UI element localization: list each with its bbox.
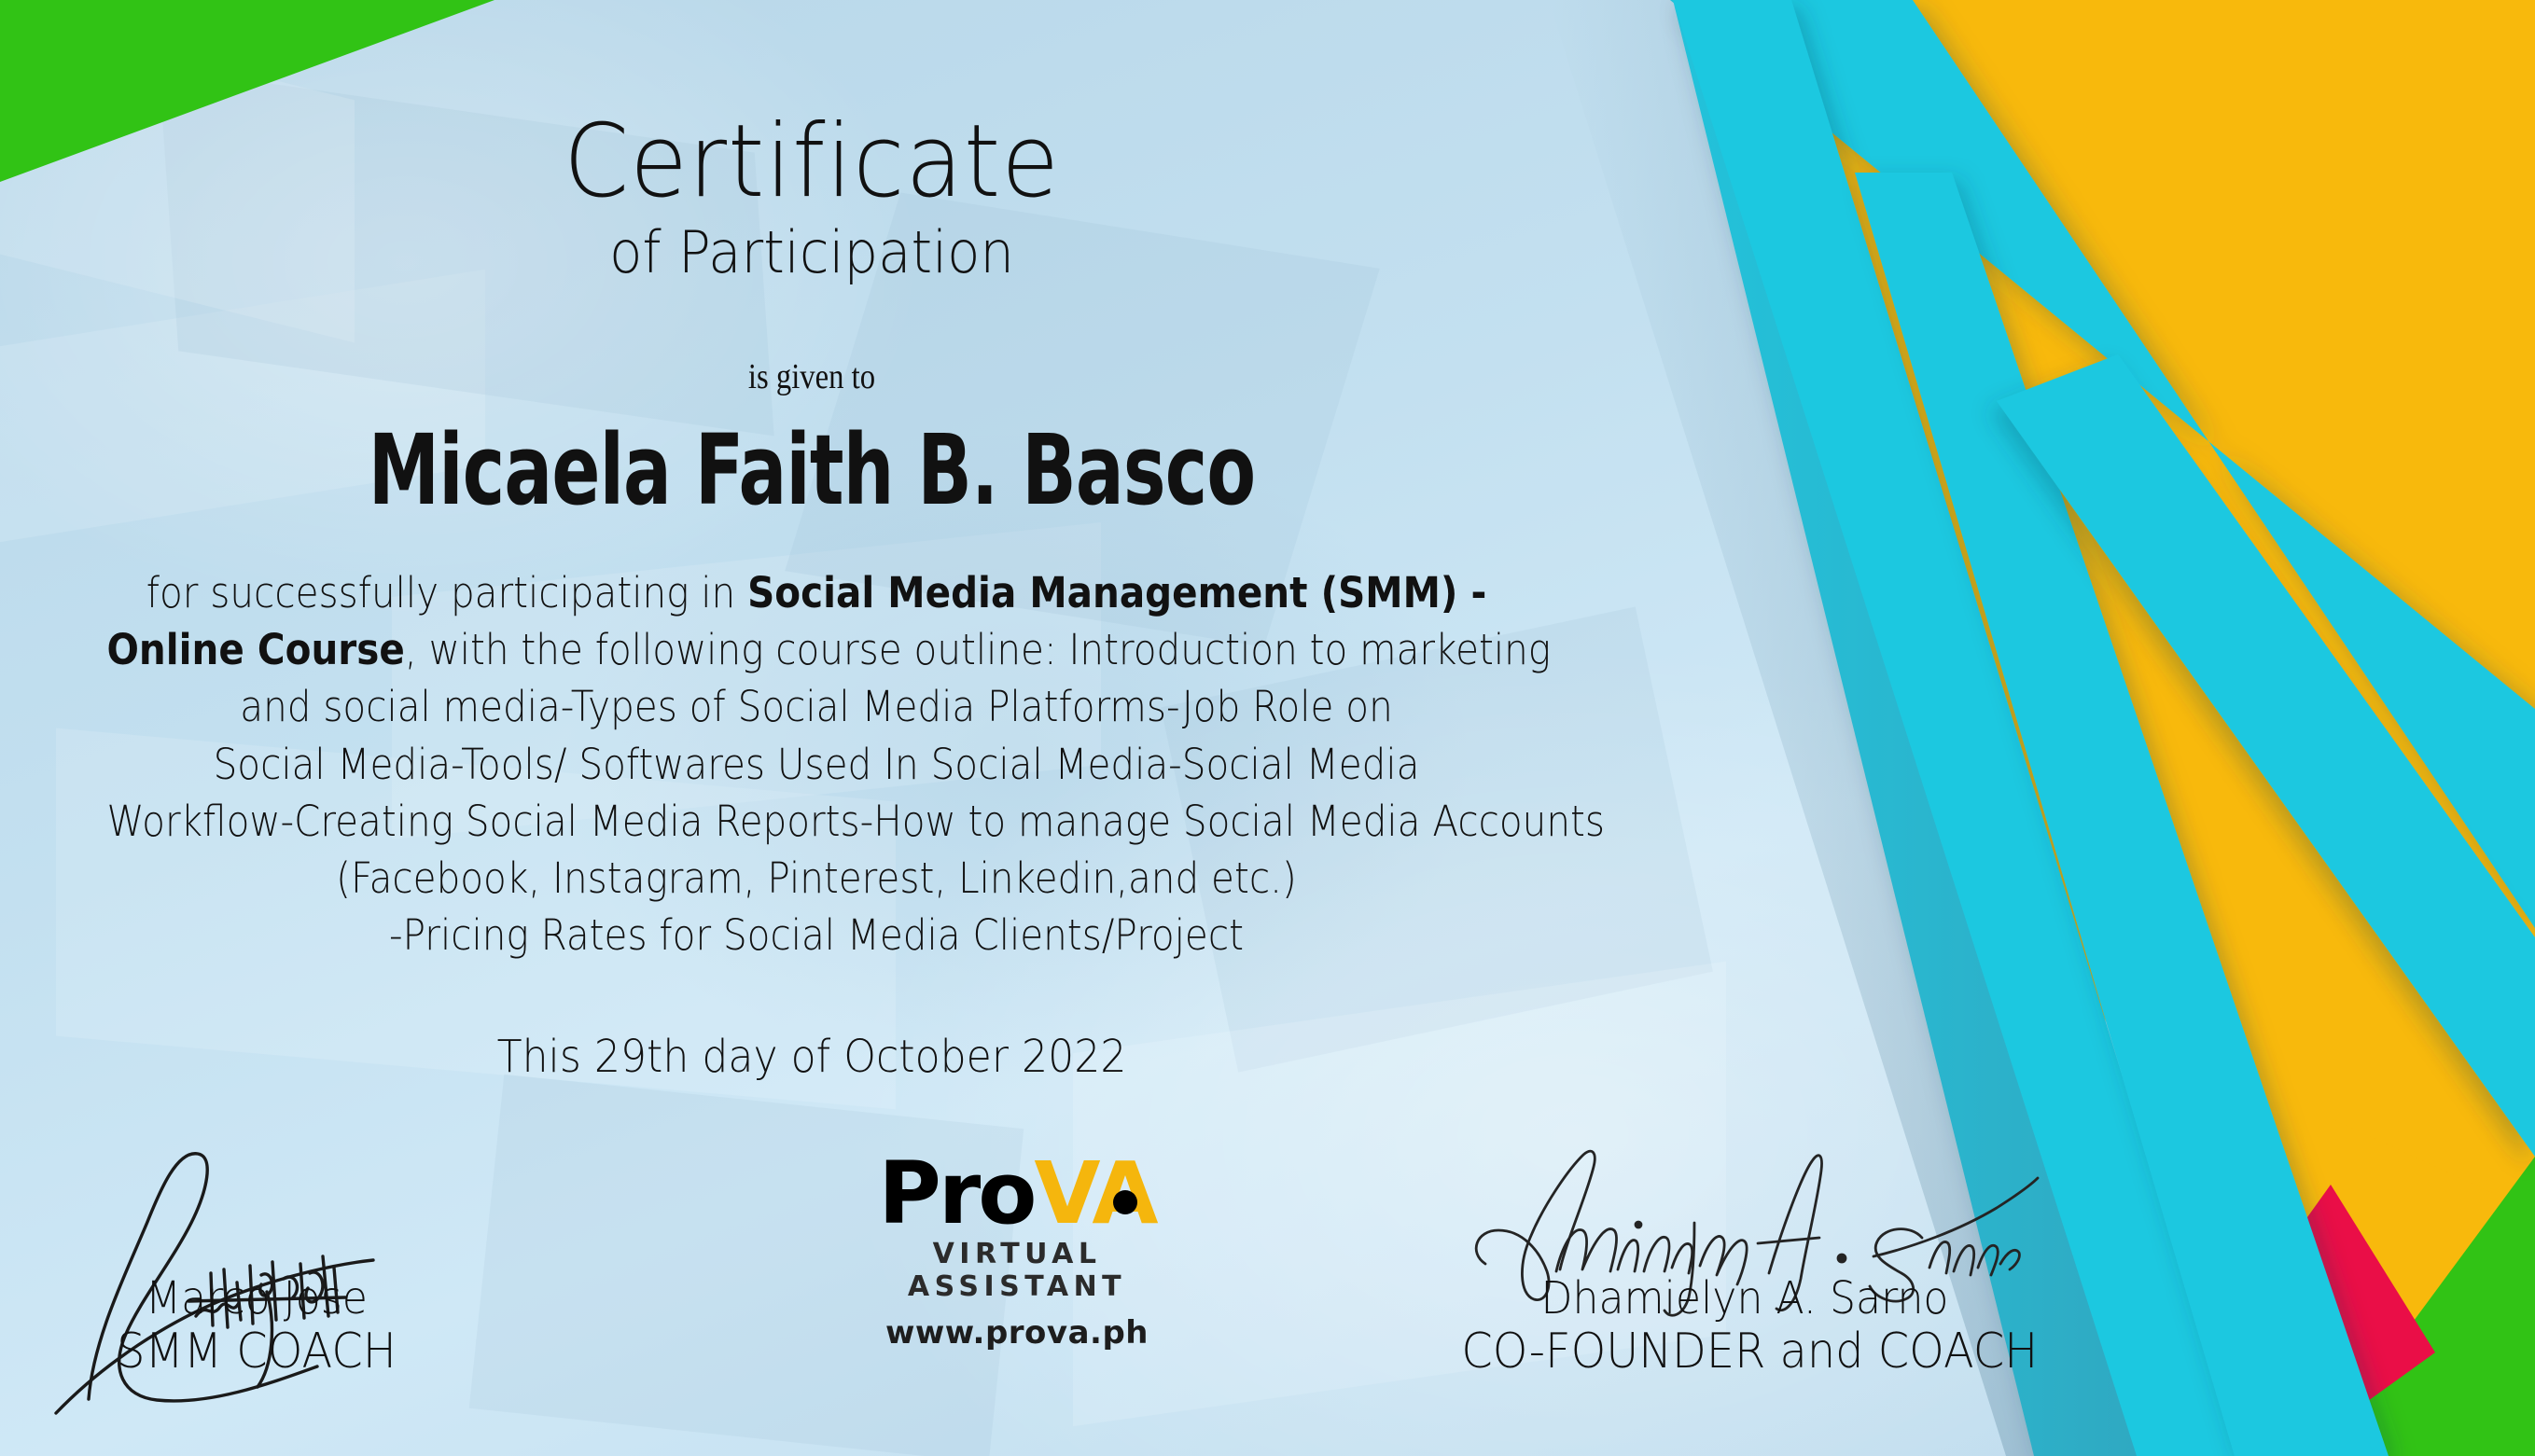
signature-role-right: CO-FOUNDER and COACH: [1461, 1324, 2027, 1380]
course-description-run: , with the following course outline: Int…: [405, 625, 1551, 674]
recipient-name: Micaela Faith B. Basco: [146, 420, 1478, 521]
course-description-line: and social media-Types of Social Media P…: [107, 678, 1526, 735]
course-description-line: (Facebook, Instagram, Pinterest, Linkedi…: [107, 850, 1526, 907]
signature-mark-dhamielyn-sarno: [1437, 1133, 2053, 1273]
course-description-line: Online Course, with the following course…: [107, 621, 1526, 678]
date-line: This 29th day of October 2022: [65, 1031, 1559, 1083]
course-description-line: Social Media-Tools/ Softwares Used In So…: [107, 736, 1526, 793]
given-to-label: is given to: [114, 356, 1510, 397]
signature-block-left: Marco Jose SMM COACH: [37, 1133, 476, 1380]
course-description-emphasis: Social Media Management (SMM) -: [747, 568, 1486, 617]
course-description-run: Social Media-Tools/ Softwares Used In So…: [214, 740, 1420, 789]
prova-logo-va: VA: [1034, 1144, 1155, 1243]
course-description-run: for successfully participating in: [146, 568, 747, 617]
prova-logo-mark: ProVA: [878, 1155, 1155, 1234]
signature-name-left: Marco Jose: [55, 1273, 458, 1324]
course-description-run: (Facebook, Instagram, Pinterest, Linkedi…: [336, 853, 1297, 903]
signature-mark-marco-jose: [37, 1133, 476, 1273]
prova-logo-dot-icon: [1113, 1190, 1137, 1214]
signature-role-left: SMM COACH: [55, 1324, 458, 1380]
certificate-canvas: Certificate of Participation is given to…: [0, 0, 2535, 1456]
signature-name-right: Dhamielyn A. Sarno: [1461, 1273, 2027, 1324]
course-description-emphasis: Online Course: [107, 625, 405, 674]
course-description-run: and social media-Types of Social Media P…: [240, 682, 1392, 731]
prova-logo-url: www.prova.ph: [821, 1314, 1213, 1352]
prova-logo-pro: Pro: [878, 1144, 1034, 1243]
certificate-subtitle: of Participation: [57, 224, 1567, 282]
course-description-line: -Pricing Rates for Social Media Clients/…: [107, 907, 1526, 964]
course-description-line: for successfully participating in Social…: [107, 564, 1526, 621]
course-description-run: -Pricing Rates for Social Media Clients/…: [389, 910, 1244, 960]
prova-logo-tagline: VIRTUAL ASSISTANT: [821, 1238, 1213, 1303]
course-description: for successfully participating in Social…: [107, 564, 1526, 964]
signature-block-right: Dhamielyn A. Sarno CO-FOUNDER and COACH: [1437, 1133, 2053, 1380]
course-description-line: Workflow-Creating Social Media Reports-H…: [107, 793, 1526, 850]
certificate-title: Certificate: [57, 112, 1567, 213]
prova-logo: ProVA VIRTUAL ASSISTANT www.prova.ph: [821, 1155, 1213, 1352]
course-description-run: Workflow-Creating Social Media Reports-H…: [107, 797, 1605, 846]
